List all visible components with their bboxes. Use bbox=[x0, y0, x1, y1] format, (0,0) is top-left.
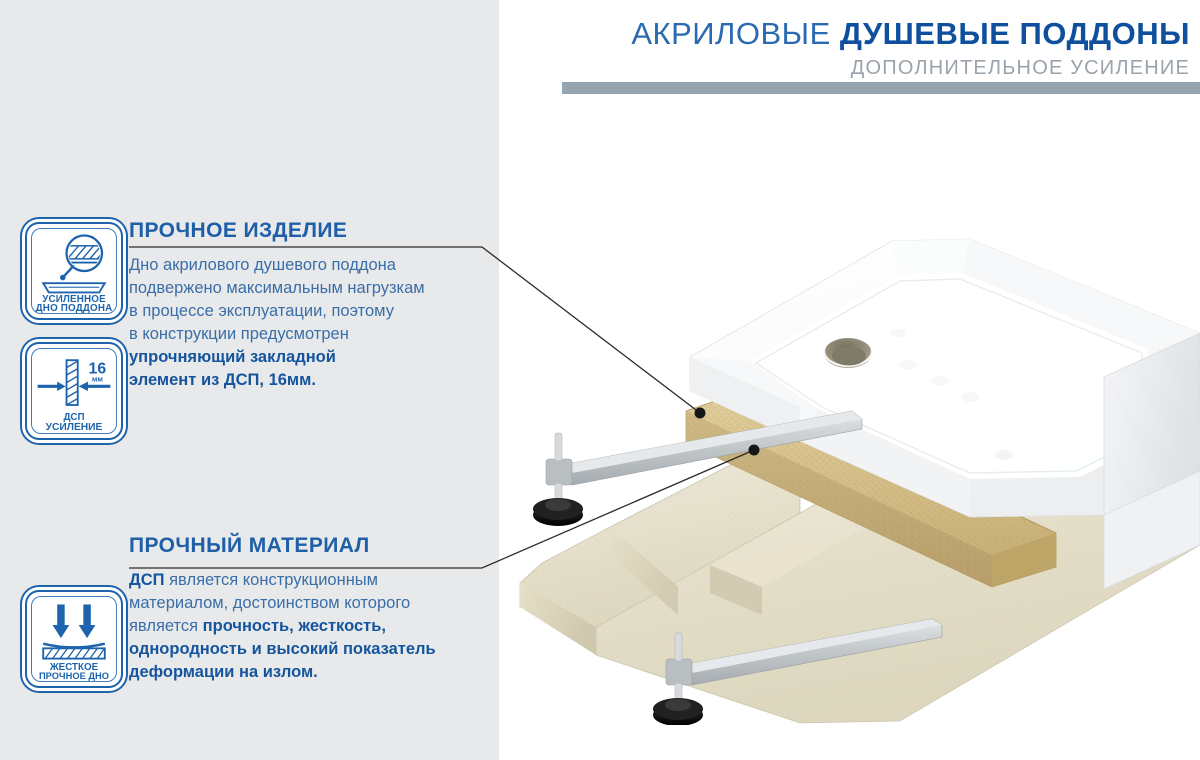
thickness-arrows-board-icon: 16 мм ДСП УСИЛЕНИЕ bbox=[32, 349, 116, 433]
block-heading: ПРОЧНЫЙ МАТЕРИАЛ bbox=[129, 533, 489, 559]
text-block-durable-material: ПРОЧНЫЙ МАТЕРИАЛ ДСП является конструкци… bbox=[129, 533, 489, 684]
body-line-bold: прочность, жесткость, bbox=[203, 617, 386, 635]
body-line-bold: упрочняющий закладной bbox=[129, 348, 336, 366]
page-subtitle: ДОПОЛНИТЕЛЬНОЕ УСИЛЕНИЕ bbox=[560, 55, 1190, 81]
body-line: в конструкции предусмотрен bbox=[129, 323, 489, 346]
block-body: Дно акрилового душевого поддона подверже… bbox=[129, 254, 489, 392]
badge-inner-frame: ЖЕСТКОЕ ПРОЧНОЕ ДНО bbox=[31, 596, 117, 682]
badge-inner-frame: УСИЛЕННОЕ ДНО ПОДДОНА bbox=[31, 228, 117, 314]
body-line: подвержено максимальным нагрузкам bbox=[129, 277, 489, 300]
magnifier-over-layered-panel-icon: УСИЛЕННОЕ ДНО ПОДДОНА bbox=[32, 229, 116, 313]
badge-reinforced-tray-bottom: УСИЛЕННОЕ ДНО ПОДДОНА bbox=[25, 222, 123, 320]
body-line: в процессе эксплуатации, поэтому bbox=[129, 300, 489, 323]
header-divider-bar bbox=[562, 82, 1200, 94]
badge-chipboard-reinforcement: 16 мм ДСП УСИЛЕНИЕ bbox=[25, 342, 123, 440]
block-heading: ПРОЧНОЕ ИЗДЕЛИЕ bbox=[129, 218, 489, 244]
body-line: материалом, достоинством которого bbox=[129, 592, 489, 615]
badge-inner-frame: 16 мм ДСП УСИЛЕНИЕ bbox=[31, 348, 117, 434]
page-title: АКРИЛОВЫЕ ДУШЕВЫЕ ПОДДОНЫ bbox=[560, 14, 1190, 54]
text-block-durable-product: ПРОЧНОЕ ИЗДЕЛИЕ Дно акрилового душевого … bbox=[129, 218, 489, 392]
badge-label-line2: ДНО ПОДДОНА bbox=[36, 303, 113, 313]
badge-rigid-strong-bottom: ЖЕСТКОЕ ПРОЧНОЕ ДНО bbox=[25, 590, 123, 688]
body-line: Дно акрилового душевого поддона bbox=[129, 254, 489, 277]
body-line-bold: элемент из ДСП, 16мм. bbox=[129, 371, 316, 389]
infographic-page: АКРИЛОВЫЕ ДУШЕВЫЕ ПОДДОНЫ ДОПОЛНИТЕЛЬНОЕ… bbox=[0, 0, 1200, 760]
badge-label-line2: ПРОЧНОЕ ДНО bbox=[39, 671, 109, 681]
body-line: является bbox=[129, 617, 203, 635]
page-header: АКРИЛОВЫЕ ДУШЕВЫЕ ПОДДОНЫ ДОПОЛНИТЕЛЬНОЕ… bbox=[560, 14, 1190, 81]
badge-label-line2: УСИЛЕНИЕ bbox=[46, 422, 103, 433]
body-lead-bold: ДСП bbox=[129, 571, 165, 589]
down-arrows-on-plate-icon: ЖЕСТКОЕ ПРОЧНОЕ ДНО bbox=[32, 597, 116, 681]
badge-thickness-unit: мм bbox=[92, 375, 103, 384]
drain-hole bbox=[824, 336, 872, 368]
body-line-bold: деформации на излом. bbox=[129, 663, 318, 681]
page-title-bold: ДУШЕВЫЕ ПОДДОНЫ bbox=[840, 16, 1190, 51]
page-title-light: АКРИЛОВЫЕ bbox=[631, 16, 840, 51]
body-line: является конструкционным bbox=[169, 571, 378, 589]
block-body: ДСП является конструкционным материалом,… bbox=[129, 569, 489, 684]
product-illustration bbox=[500, 215, 1200, 725]
body-line-bold: однородность и высокий показатель bbox=[129, 640, 436, 658]
